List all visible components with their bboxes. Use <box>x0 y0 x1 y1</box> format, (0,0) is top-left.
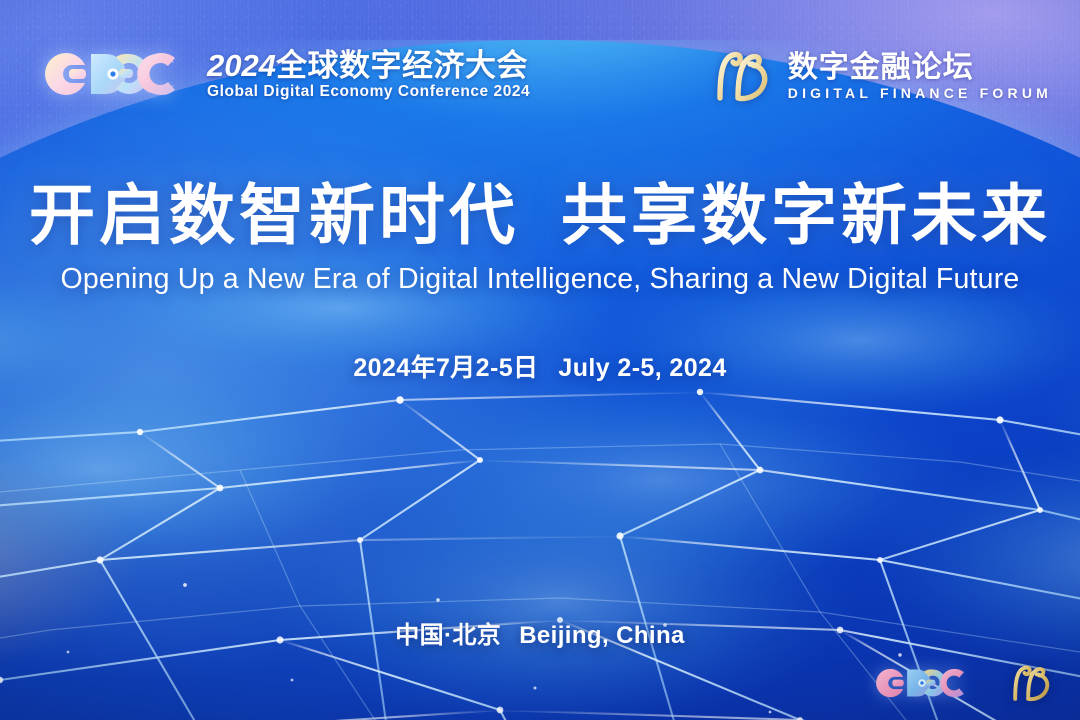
gdec-title-cn-text: 全球数字经济大会 <box>276 48 528 83</box>
digital-finance-forum-lockup: 数字金融论坛 DIGITAL FINANCE FORUM <box>710 48 1052 104</box>
event-location-cn: 中国·北京 <box>395 622 501 649</box>
dff-title-block: 数字金融论坛 DIGITAL FINANCE FORUM <box>788 53 1052 100</box>
event-date-en: July 2-5, 2024 <box>558 354 726 382</box>
event-location-en: Beijing, China <box>519 622 685 649</box>
gdec-logo-lockup: 2024全球数字经济大会 Global Digital Economy Conf… <box>33 45 530 103</box>
dff-title-cn: 数字金融论坛 <box>788 53 1052 83</box>
gdec-year: 2024 <box>207 48 276 83</box>
headline-subtitle-en: Opening Up a New Era of Digital Intellig… <box>0 263 1080 296</box>
gdec-title-cn: 2024全球数字经济大会 <box>207 50 530 82</box>
ff-monogram-icon <box>710 48 774 104</box>
gdec-title-block: 2024全球数字经济大会 Global Digital Economy Conf… <box>207 49 530 99</box>
event-date: 2024年7月2-5日July 2-5, 2024 <box>0 348 1080 384</box>
ff-monogram-icon-footer <box>1008 662 1054 704</box>
conference-backdrop: 2024全球数字经济大会 Global Digital Economy Conf… <box>0 0 1080 720</box>
hero-text-block: 开启数智新时代共享数字新未来 Opening Up a New Era of D… <box>0 180 1080 384</box>
headline-part-1: 开启数智新时代 <box>29 178 519 252</box>
headline-part-2: 共享数字新未来 <box>561 178 1051 252</box>
gdec-logo-mark-footer <box>868 663 976 703</box>
event-date-cn: 2024年7月2-5日 <box>353 354 538 382</box>
main-headline: 开启数智新时代共享数字新未来 <box>0 180 1080 251</box>
gdec-title-en: Global Digital Economy Conference 2024 <box>207 84 530 100</box>
footer-logo-row <box>868 662 1054 704</box>
gdec-logo-mark <box>33 45 193 103</box>
event-location: 中国·北京Beijing, China <box>0 615 1080 650</box>
dff-title-en: DIGITAL FINANCE FORUM <box>788 86 1052 100</box>
